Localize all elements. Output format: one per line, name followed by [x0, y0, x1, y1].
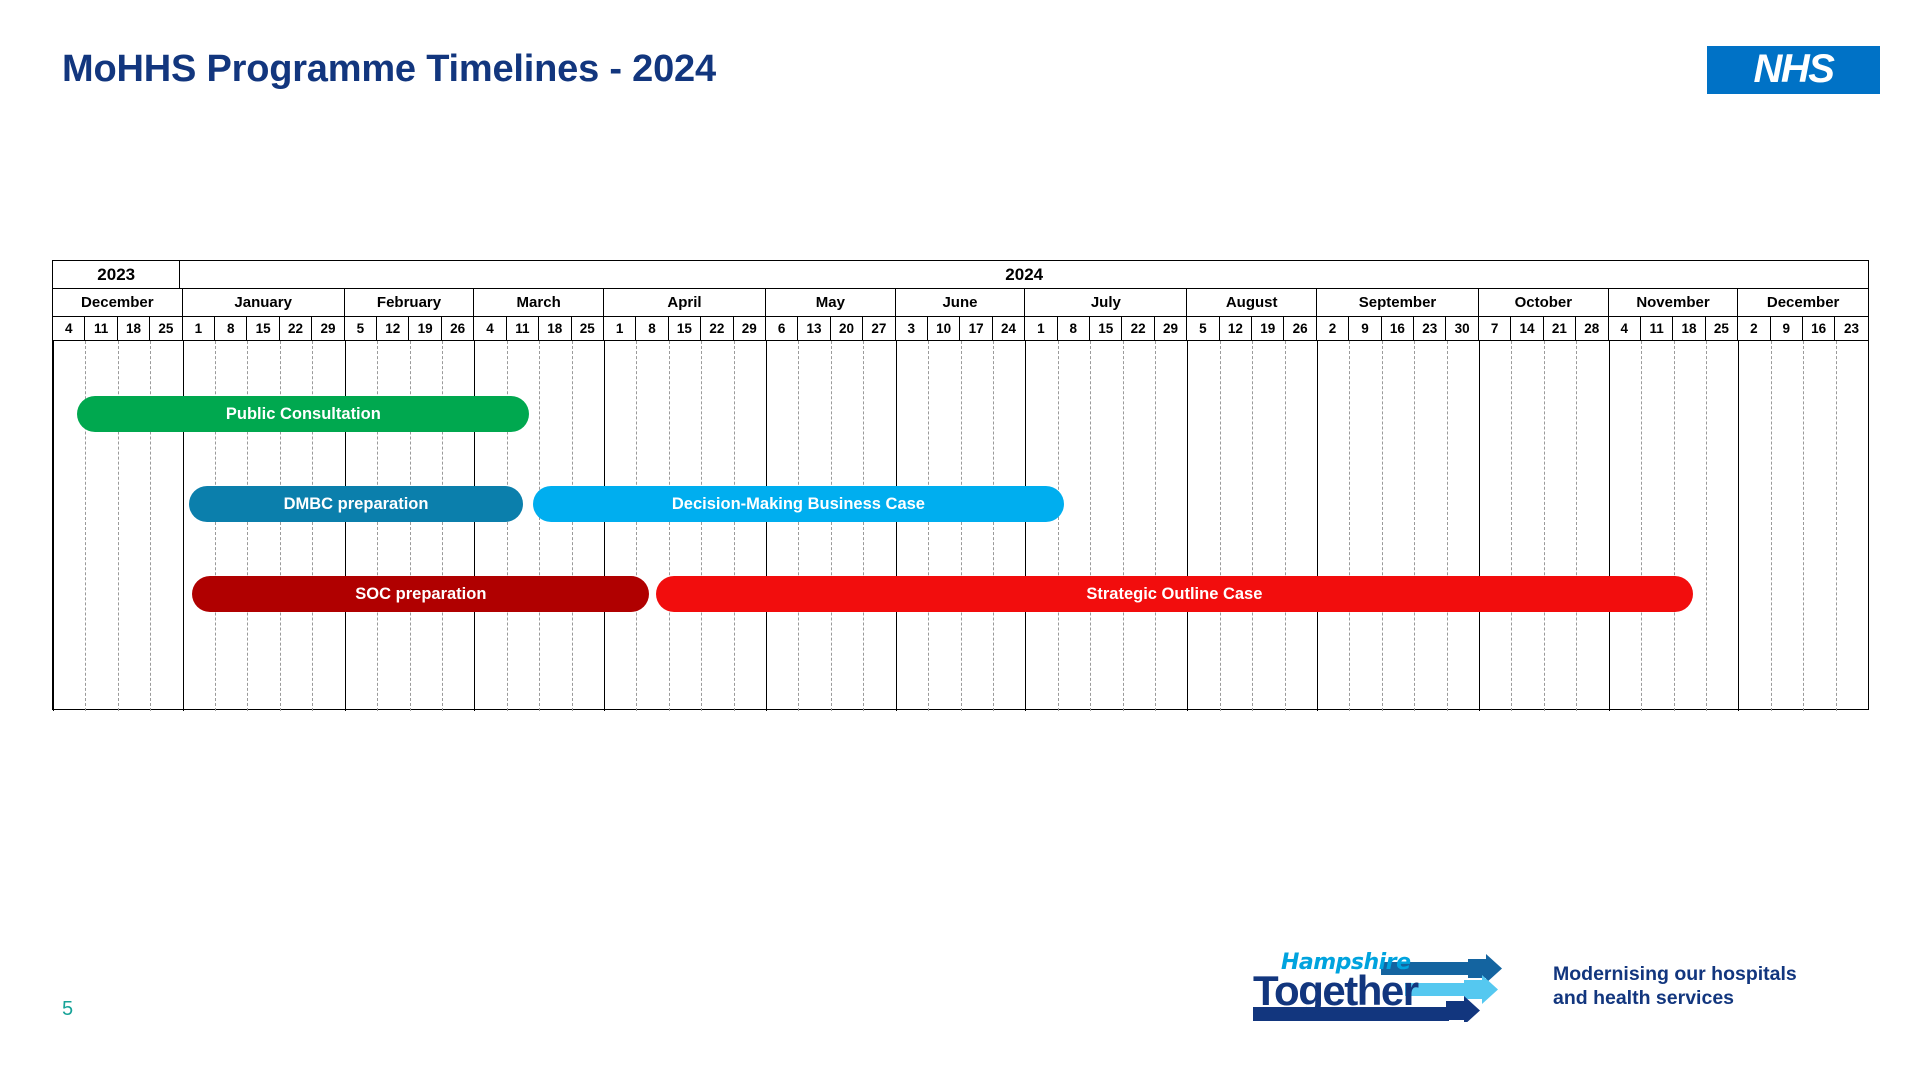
week-cell: 4 [53, 317, 85, 341]
gridline-week [863, 341, 864, 711]
gridline-week [831, 341, 832, 711]
week-cell: 24 [993, 317, 1025, 341]
week-cell: 26 [1284, 317, 1316, 341]
gridline-week [1285, 341, 1286, 711]
week-cell: 4 [1609, 317, 1641, 341]
gantt-body: Public ConsultationDMBC preparationDecis… [53, 341, 1868, 711]
gridline-month [766, 341, 767, 711]
week-cell: 19 [409, 317, 441, 341]
week-cell: 13 [798, 317, 830, 341]
gridline-week [669, 341, 670, 711]
gridline-week [1058, 341, 1059, 711]
week-cell: 27 [863, 317, 895, 341]
page-title: MoHHS Programme Timelines - 2024 [62, 48, 716, 91]
gridline-week [961, 341, 962, 711]
month-cell-june-2024: June [896, 289, 1026, 317]
week-cell: 5 [1187, 317, 1219, 341]
gridline-month [1609, 341, 1610, 711]
week-cell: 23 [1835, 317, 1867, 341]
month-cell-august-2024: August [1187, 289, 1317, 317]
gridline-month [1738, 341, 1739, 711]
gridline-week [572, 341, 573, 711]
gridline-week [1706, 341, 1707, 711]
week-cell: 9 [1349, 317, 1381, 341]
hampshire-together-logo: Hampshire Together [1253, 950, 1553, 1022]
week-cell: 11 [507, 317, 539, 341]
week-cell: 25 [1706, 317, 1738, 341]
gantt-year-header: 20232024 [53, 261, 1868, 289]
gridline-week [1349, 341, 1350, 711]
week-cell: 17 [960, 317, 992, 341]
slide: MoHHS Programme Timelines - 2024 NHS 202… [0, 0, 1920, 1080]
month-cell-january-2024: January [183, 289, 345, 317]
week-cell: 8 [636, 317, 668, 341]
week-cell: 12 [377, 317, 409, 341]
gridline-week [1544, 341, 1545, 711]
gridline-week [1414, 341, 1415, 711]
month-cell-april-2024: April [604, 289, 766, 317]
week-cell: 22 [701, 317, 733, 341]
week-cell: 16 [1382, 317, 1414, 341]
gridline-week [1836, 341, 1837, 711]
tagline-line-1: Modernising our hospitals [1553, 962, 1797, 986]
month-cell-july-2024: July [1025, 289, 1187, 317]
gantt-bar-label: SOC preparation [355, 585, 486, 604]
week-cell: 25 [572, 317, 604, 341]
gridline-week [993, 341, 994, 711]
week-cell: 1 [183, 317, 215, 341]
gridline-week [539, 341, 540, 711]
month-cell-february-2024: February [345, 289, 475, 317]
gridline-month [604, 341, 605, 711]
week-cell: 22 [280, 317, 312, 341]
week-cell: 1 [604, 317, 636, 341]
gridline-week [734, 341, 735, 711]
month-cell-november-2024: November [1609, 289, 1739, 317]
gantt-month-header: DecemberJanuaryFebruaryMarchAprilMayJune… [53, 289, 1868, 317]
gantt-bar[interactable]: DMBC preparation [189, 486, 523, 522]
week-cell: 19 [1252, 317, 1284, 341]
gridline-week [798, 341, 799, 711]
gridline-week [1771, 341, 1772, 711]
gridline-week [1803, 341, 1804, 711]
gridline-week [701, 341, 702, 711]
week-cell: 9 [1771, 317, 1803, 341]
gantt-bar[interactable]: SOC preparation [192, 576, 649, 612]
week-cell: 18 [539, 317, 571, 341]
month-cell-september-2024: September [1317, 289, 1479, 317]
gantt-bar[interactable]: Strategic Outline Case [656, 576, 1693, 612]
gridline-week [1674, 341, 1675, 711]
week-cell: 8 [215, 317, 247, 341]
week-cell: 15 [669, 317, 701, 341]
gridline-week [1641, 341, 1642, 711]
week-cell: 28 [1576, 317, 1608, 341]
logo-text-together: Together [1253, 970, 1418, 1012]
week-cell: 30 [1446, 317, 1478, 341]
gridline-month [53, 341, 54, 711]
gridline-week [1123, 341, 1124, 711]
nhs-logo-text: NHS [1754, 49, 1834, 89]
gridline-week [1220, 341, 1221, 711]
week-cell: 8 [1058, 317, 1090, 341]
gridline-week [1155, 341, 1156, 711]
week-cell: 2 [1738, 317, 1770, 341]
week-cell: 20 [831, 317, 863, 341]
gridline-month [1479, 341, 1480, 711]
week-cell: 29 [1155, 317, 1187, 341]
gridline-week [1511, 341, 1512, 711]
gridline-week [1090, 341, 1091, 711]
gantt-day-header: 4111825181522295121926411182518152229613… [53, 317, 1868, 341]
gantt-bar-label: Public Consultation [226, 405, 381, 424]
week-cell: 5 [345, 317, 377, 341]
gantt-bar-label: DMBC preparation [284, 495, 429, 514]
gridline-month [1317, 341, 1318, 711]
year-cell-2024: 2024 [180, 261, 1868, 289]
gantt-bar-label: Strategic Outline Case [1086, 585, 1262, 604]
gridline-month [896, 341, 897, 711]
month-cell-october-2024: October [1479, 289, 1609, 317]
gantt-bar[interactable]: Public Consultation [77, 396, 529, 432]
week-cell: 7 [1479, 317, 1511, 341]
gridline-week [85, 341, 86, 711]
week-cell: 12 [1220, 317, 1252, 341]
week-cell: 11 [85, 317, 117, 341]
week-cell: 25 [150, 317, 182, 341]
week-cell: 3 [896, 317, 928, 341]
month-cell-december-2023: December [53, 289, 183, 317]
week-cell: 23 [1414, 317, 1446, 341]
gridline-week [1382, 341, 1383, 711]
gridline-week [1252, 341, 1253, 711]
gridline-week [928, 341, 929, 711]
gantt-bar[interactable]: Decision-Making Business Case [533, 486, 1065, 522]
week-cell: 15 [247, 317, 279, 341]
week-cell: 18 [118, 317, 150, 341]
week-cell: 22 [1122, 317, 1154, 341]
week-cell: 15 [1090, 317, 1122, 341]
week-cell: 21 [1544, 317, 1576, 341]
week-cell: 29 [312, 317, 344, 341]
tagline-line-2: and health services [1553, 986, 1797, 1010]
week-cell: 6 [766, 317, 798, 341]
gantt-chart: 20232024 DecemberJanuaryFebruaryMarchApr… [52, 260, 1869, 710]
month-cell-march-2024: March [474, 289, 604, 317]
week-cell: 26 [442, 317, 474, 341]
week-cell: 11 [1641, 317, 1673, 341]
page-number: 5 [62, 998, 73, 1021]
month-cell-may-2024: May [766, 289, 896, 317]
gridline-month [1187, 341, 1188, 711]
week-cell: 29 [734, 317, 766, 341]
week-cell: 4 [474, 317, 506, 341]
week-cell: 16 [1803, 317, 1835, 341]
year-cell-2023: 2023 [53, 261, 180, 289]
nhs-logo: NHS [1707, 46, 1880, 94]
gridline-month [1025, 341, 1026, 711]
gridline-week [636, 341, 637, 711]
gantt-bar-label: Decision-Making Business Case [672, 495, 925, 514]
week-cell: 1 [1025, 317, 1057, 341]
month-cell-december-2024: December [1738, 289, 1868, 317]
week-cell: 10 [928, 317, 960, 341]
footer-tagline: Modernising our hospitals and health ser… [1553, 962, 1797, 1011]
gridline-week [1576, 341, 1577, 711]
gridline-week [1447, 341, 1448, 711]
week-cell: 2 [1317, 317, 1349, 341]
week-cell: 14 [1511, 317, 1543, 341]
week-cell: 18 [1673, 317, 1705, 341]
